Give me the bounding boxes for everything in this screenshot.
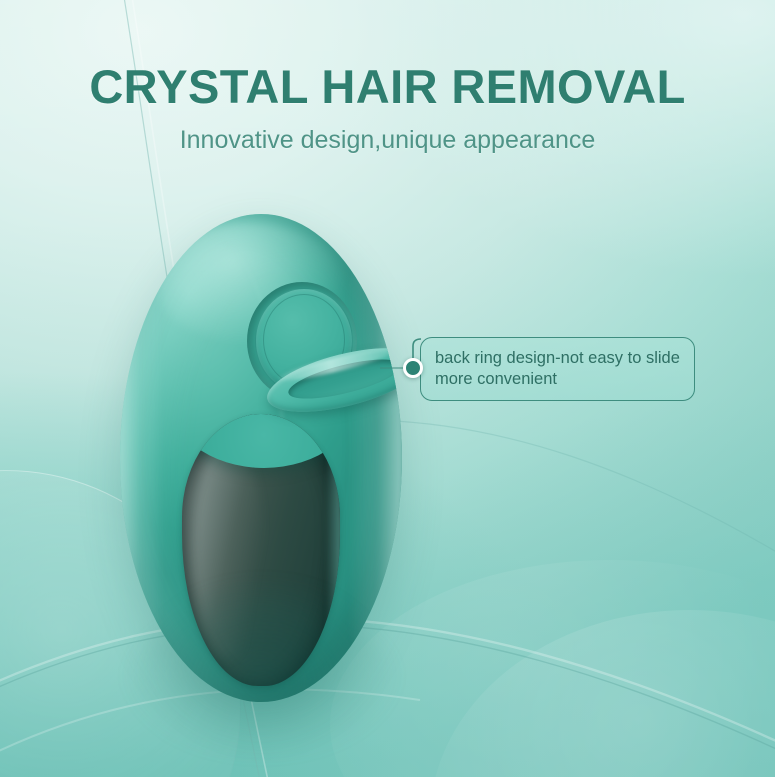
page-title: CRYSTAL HAIR REMOVAL (0, 62, 775, 112)
device-body (120, 214, 402, 702)
page-subtitle: Innovative design,unique appearance (0, 126, 775, 155)
callout-feature-box: back ring design-not easy to slide more … (420, 337, 695, 401)
product-device (120, 214, 402, 702)
callout-anchor-dot (403, 358, 423, 378)
product-banner-image: CRYSTAL HAIR REMOVAL Innovative design,u… (0, 0, 775, 777)
banner-heading: CRYSTAL HAIR REMOVAL Innovative design,u… (0, 62, 775, 155)
panel-top-curve (182, 414, 340, 468)
callout-feature-text: back ring design-not easy to slide more … (435, 348, 680, 391)
